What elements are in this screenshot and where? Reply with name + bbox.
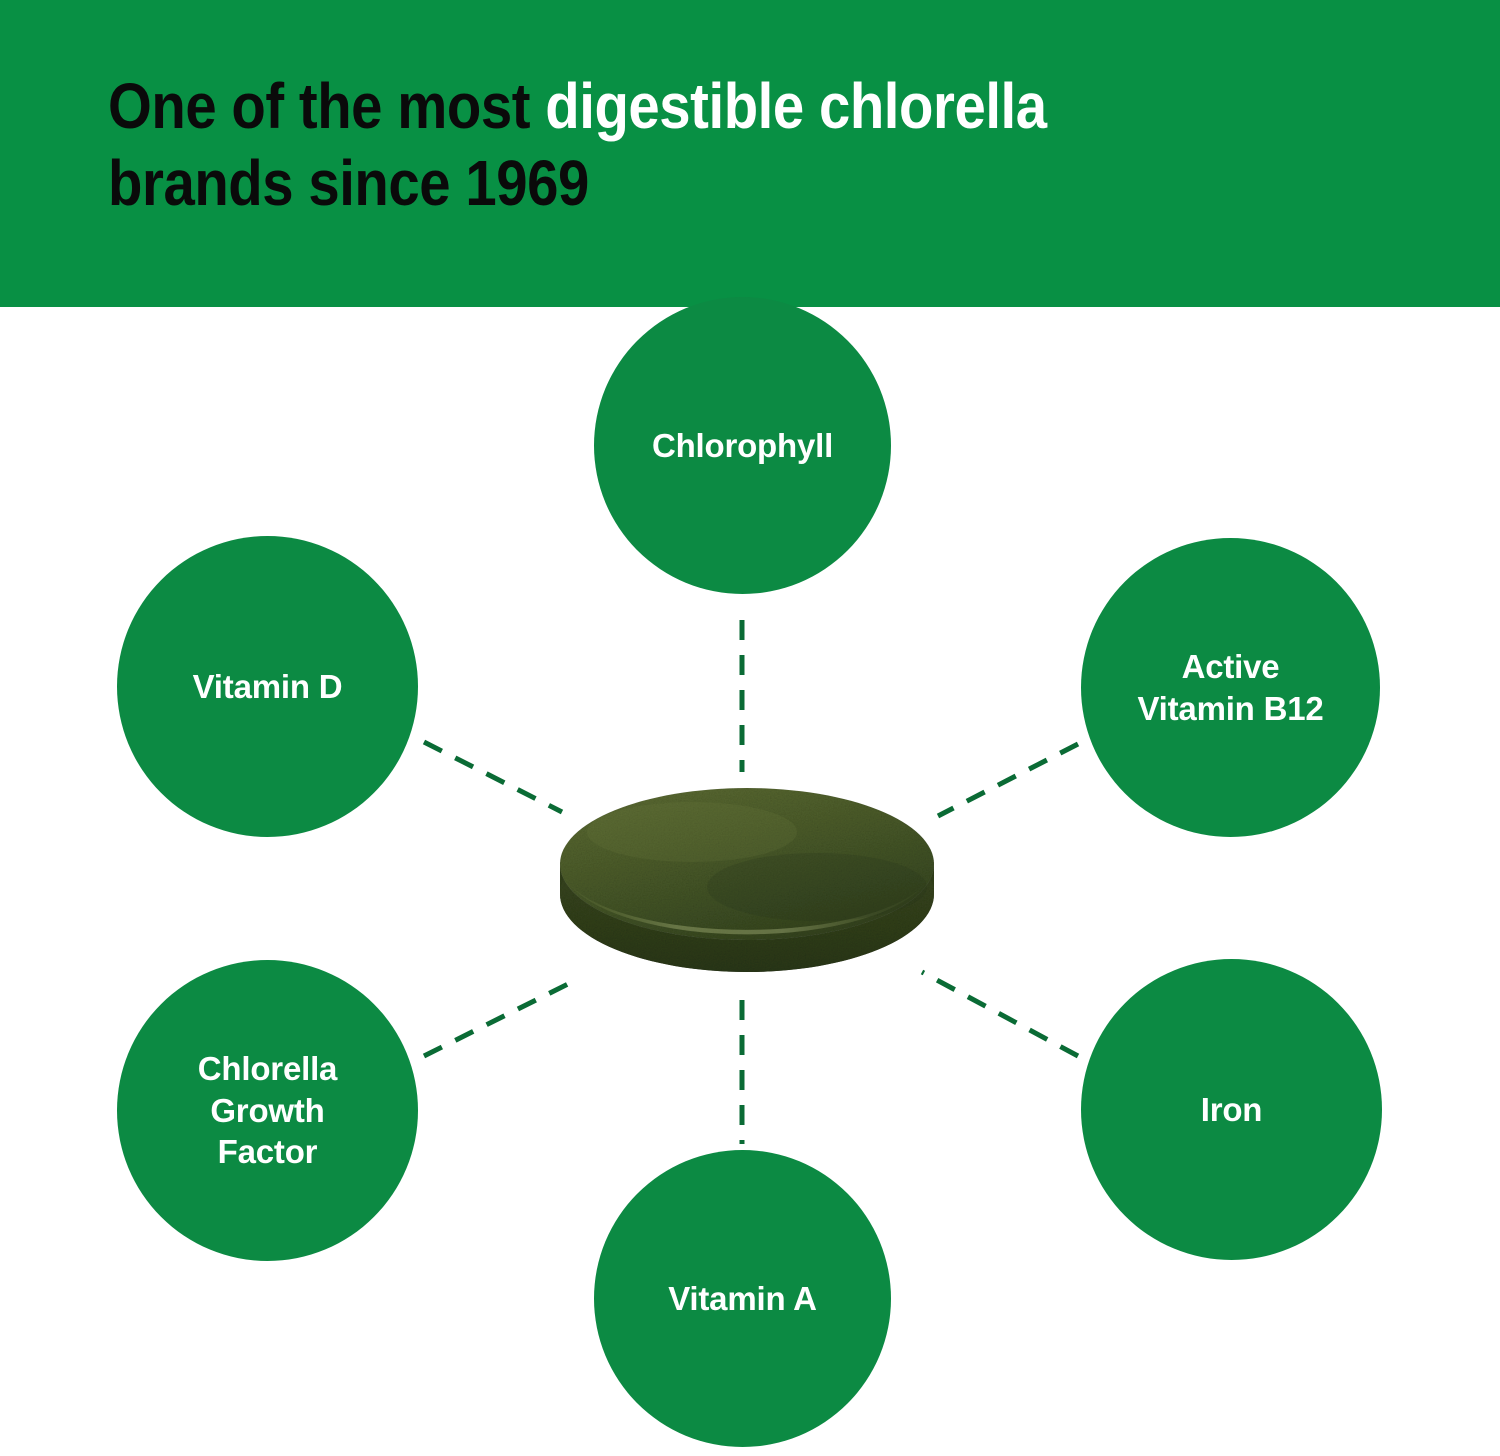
connector-cgf xyxy=(424,978,580,1056)
chlorella-tablet-image xyxy=(552,782,942,982)
node-chlorella-growth-factor[interactable]: Chlorella Growth Factor xyxy=(117,960,418,1261)
node-active-vitamin-b12[interactable]: Active Vitamin B12 xyxy=(1081,538,1380,837)
header-banner: One of the most digestible chlorella bra… xyxy=(0,0,1500,307)
chlorella-tablet-graphic xyxy=(552,782,942,982)
headline-line-1: One of the most digestible chlorella xyxy=(108,68,1287,145)
node-label-vitamin-d: Vitamin D xyxy=(175,666,361,708)
node-vitamin-d[interactable]: Vitamin D xyxy=(117,536,418,837)
node-label-vitamin-a: Vitamin A xyxy=(650,1278,835,1320)
node-label-chlorophyll: Chlorophyll xyxy=(634,425,851,467)
node-iron[interactable]: Iron xyxy=(1081,959,1382,1260)
page-title: One of the most digestible chlorella bra… xyxy=(108,68,1287,223)
node-chlorophyll[interactable]: Chlorophyll xyxy=(594,297,891,594)
headline-line-2: brands since 1969 xyxy=(108,145,1287,222)
node-label-iron: Iron xyxy=(1183,1089,1281,1131)
node-label-chlorella-growth-factor: Chlorella Growth Factor xyxy=(180,1048,355,1173)
node-label-active-vitamin-b12: Active Vitamin B12 xyxy=(1119,646,1341,729)
connector-b12 xyxy=(938,744,1078,816)
connector-iron xyxy=(922,972,1078,1056)
node-vitamin-a[interactable]: Vitamin A xyxy=(594,1150,891,1447)
headline-part-dark: One of the most xyxy=(108,70,545,142)
connector-vitamin-d xyxy=(424,742,562,812)
infographic-canvas: One of the most digestible chlorella bra… xyxy=(0,0,1500,1456)
headline-part-light: digestible chlorella xyxy=(545,70,1046,142)
